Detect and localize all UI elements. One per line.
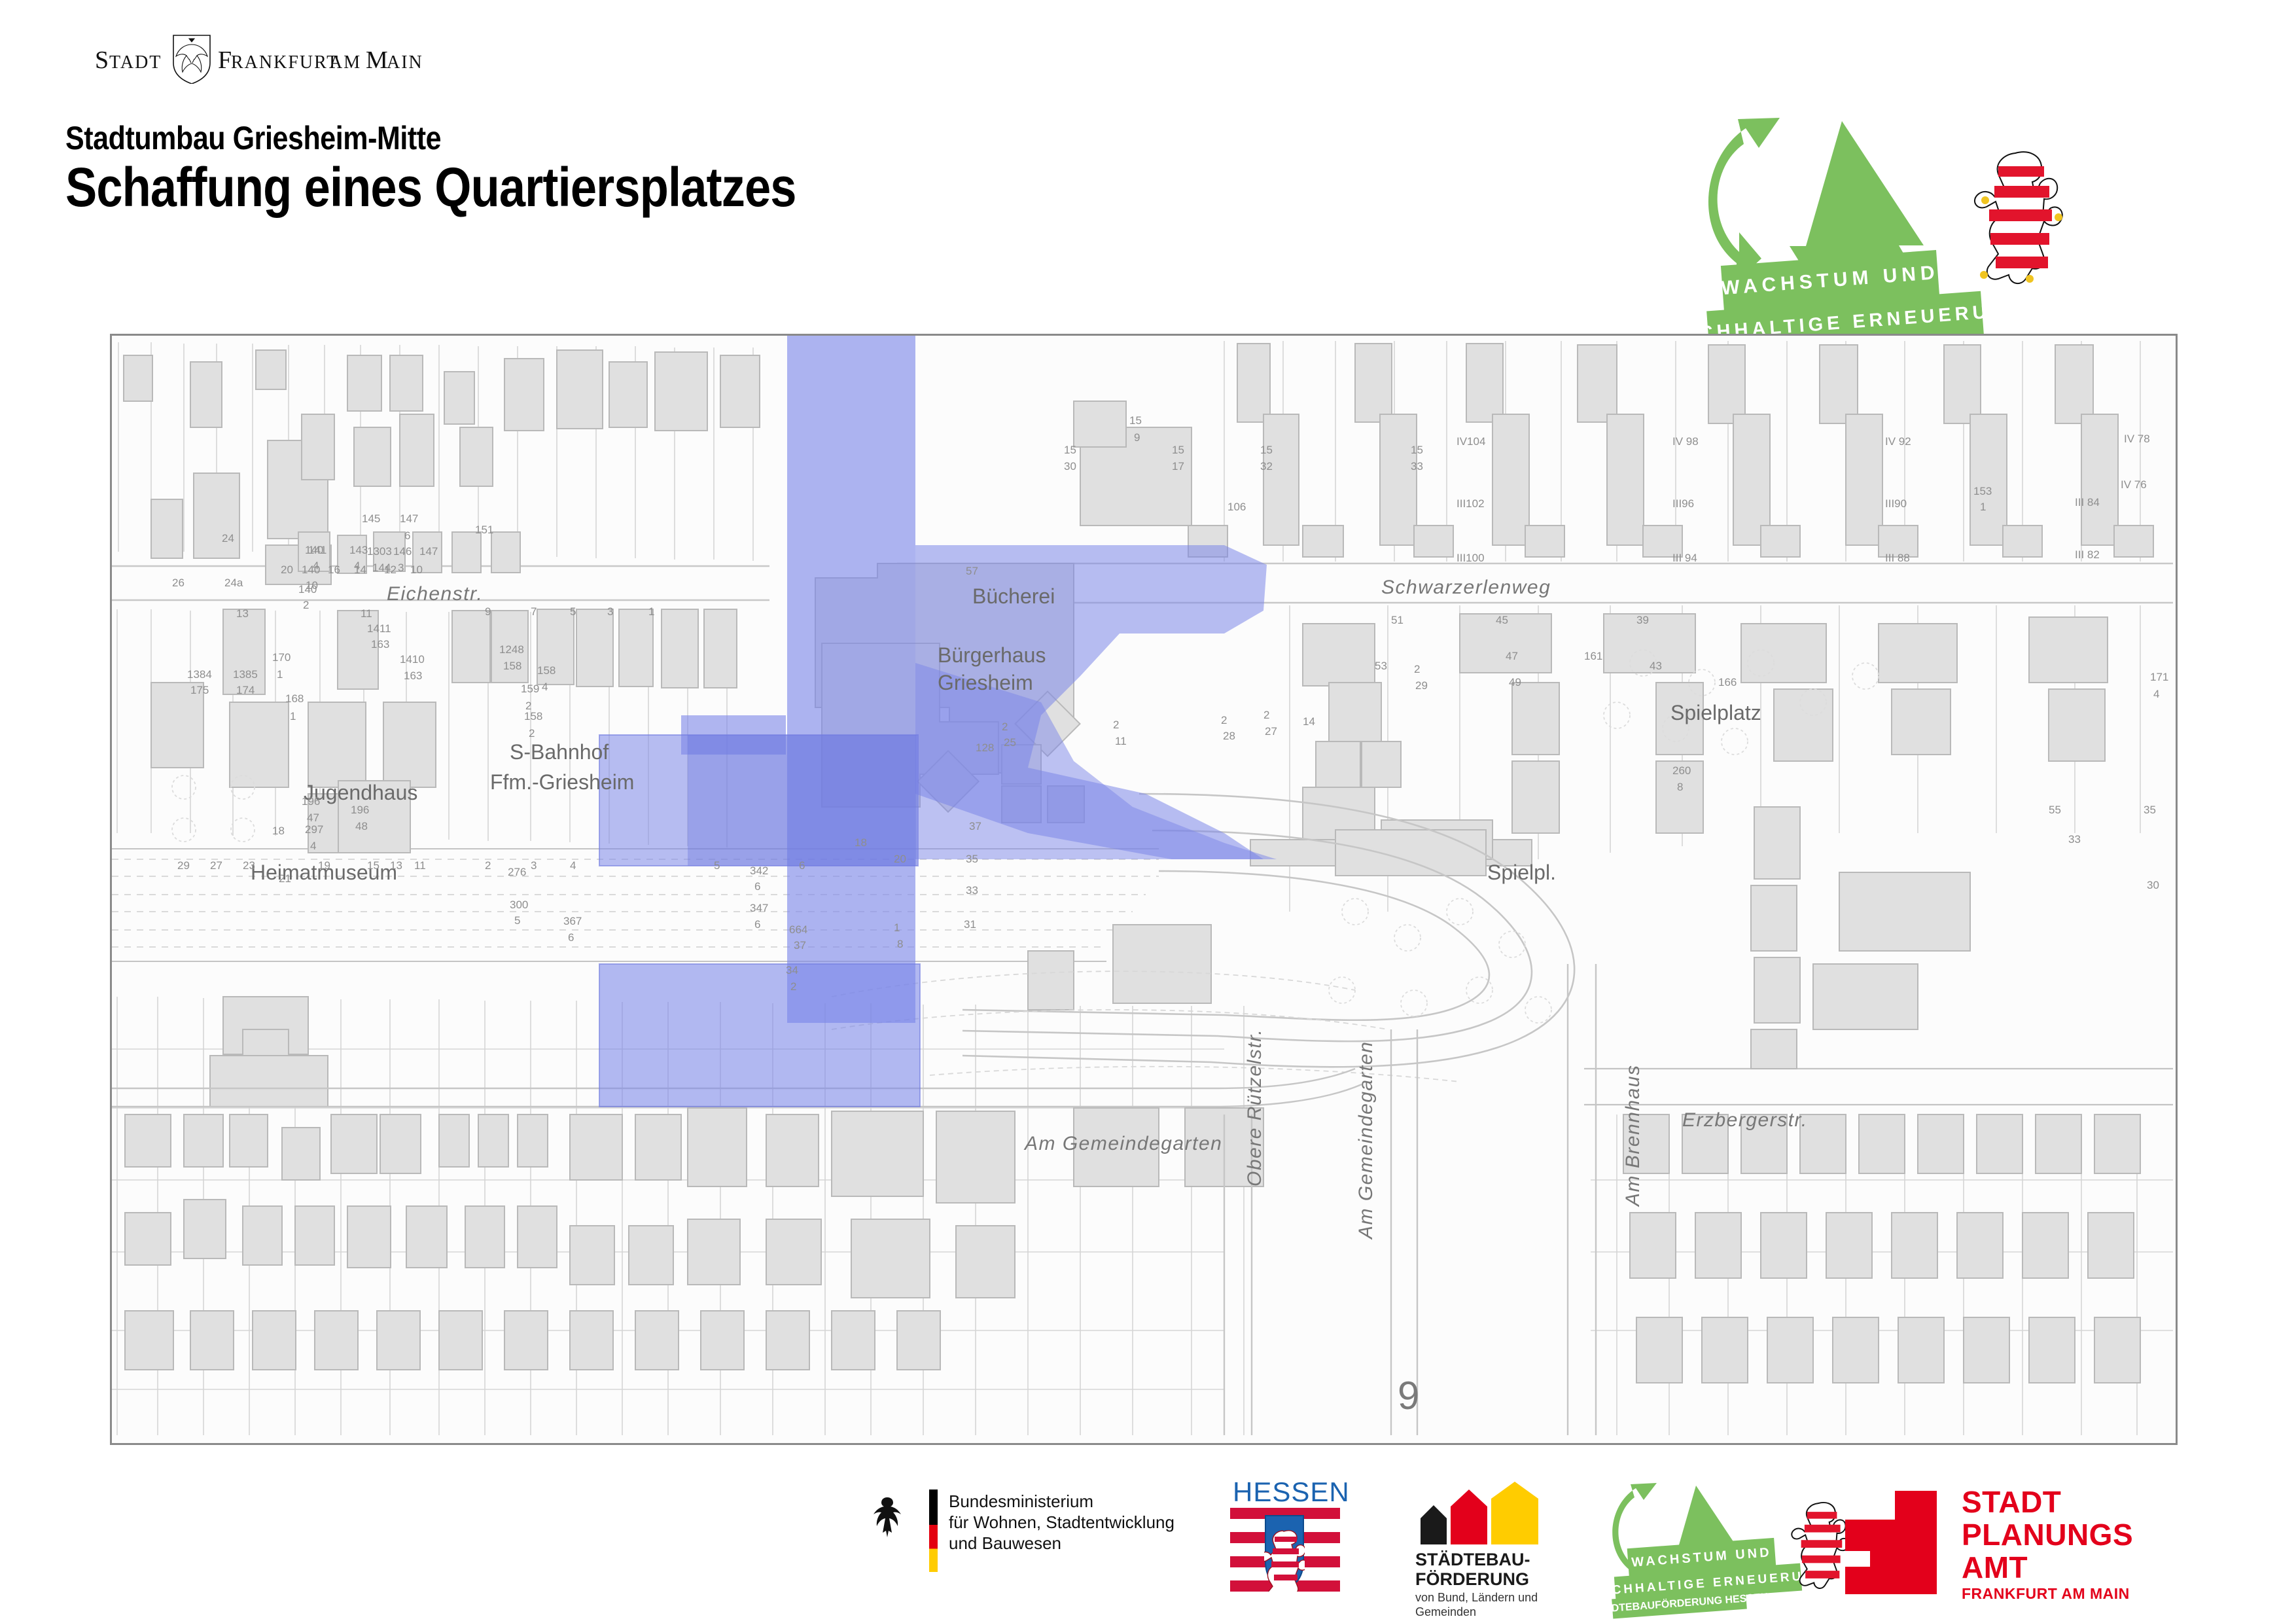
parcel-number: 19 [318,859,330,872]
bmwsb-line3: und Bauwesen [949,1533,1174,1554]
parcel-number: 13 [236,607,249,620]
parcel-number: 25 [1004,736,1016,749]
poi-label-buecherei: Bücherei [972,584,1055,609]
poi-label-spielpl: Spielpl. [1487,861,1556,885]
parcel-number: 1 [648,605,654,618]
parcel-number: 11 [1115,735,1127,748]
parcel-number: 15 [1411,444,1423,457]
parcel-number: 2 [1414,663,1420,676]
staedtebaufoerderung-logo: STÄDTEBAU- FÖRDERUNG von Bund, Ländern u… [1410,1482,1606,1606]
parcel-number: 48 [355,820,368,833]
parcel-number: IV 98 [1672,435,1699,448]
project-subtitle: Stadtumbau Griesheim-Mitte [65,119,441,157]
parcel-number: 11 [414,859,426,872]
parcel-number: 3 [531,859,537,872]
staedtebau-subtext: von Bund, Ländern und Gemeinden [1415,1590,1538,1619]
parcel-number: III90 [1885,497,1907,510]
parcel-number: 6 [754,880,760,893]
parcel-number: 367 [563,915,582,928]
parcel-number: 1 [290,710,296,723]
parcel-number: 10 [410,563,423,577]
parcel-number: 143 [349,544,368,557]
poi-label-ffm-griesheim: Ffm.-Griesheim [490,770,634,794]
svg-text:AIN: AIN [387,52,423,73]
parcel-number: 18 [272,825,285,838]
parcel-number: 12 [384,563,397,577]
parcel-number: 6 [799,859,805,872]
parcel-number: 30 [2147,879,2159,892]
parcel-number: 1384 [187,668,212,681]
parcel-number: 158 [537,664,556,677]
parcel-number: 9 [485,605,491,618]
parcel-number: 2 [1002,721,1008,734]
parcel-number: 1411 [367,622,391,635]
parcel-number: 15 [367,859,380,872]
street-label-am-gemeindegarten: Am Gemeindegarten [1025,1133,1222,1155]
parcel-number: 3 [398,562,404,575]
parcel-number: 34 [786,964,798,977]
parcel-number: III 84 [2075,496,2100,509]
parcel-number: III 82 [2075,548,2100,562]
street-label-eichenstr: Eichenstr. [387,583,483,605]
parcel-number: 174 [236,684,255,697]
parcel-number: 33 [2068,833,2081,846]
parcel-number: 161 [1584,650,1602,663]
parcel-number: 145 [362,512,380,526]
parcel-number: 158 [524,710,542,723]
svg-text:RANKFURT: RANKFURT [231,52,339,73]
parcel-number: 3 [607,605,613,618]
staedtebau-sub2: Gemeinden [1415,1605,1538,1619]
parcel-number: 29 [177,859,190,872]
street-label-schwarzerlenweg: Schwarzerlenweg [1381,577,1551,599]
parcel-number: 1 [1980,501,1986,514]
parcel-number: 175 [190,684,209,697]
street-label-erzbergerstr: Erzbergerstr. [1682,1109,1808,1132]
staedtebau-line1: STÄDTEBAU- [1415,1550,1530,1569]
parcel-number: 37 [794,939,806,952]
parcel-number: 20 [894,853,906,866]
parcel-number: 166 [1718,676,1737,689]
bmwsb-text: Bundesministerium für Wohnen, Stadtentwi… [949,1491,1174,1554]
staedtebau-line2: FÖRDERUNG [1415,1569,1530,1589]
parcel-number: 7 [531,605,537,618]
funding-logo-bar: Bundesministerium für Wohnen, Stadtentwi… [0,1472,2296,1623]
parcel-number: 163 [371,638,389,651]
parcel-number: 55 [2049,804,2061,817]
parcel-number: 45 [1496,614,1508,627]
parcel-number: 4 [570,859,576,872]
parcel-number: 342 [750,865,768,878]
parcel-number: 24 [222,532,234,545]
parcel-number: 9 [1134,431,1140,444]
parcel-number: III 88 [1885,552,1910,565]
parcel-number: 57 [966,565,978,578]
parcel-number: 17 [1172,460,1184,473]
poi-label-s-bahnhof: S-Bahnhof [510,740,609,764]
parcel-number: 27 [1265,725,1277,738]
svg-text:F: F [218,46,232,74]
city-of-frankfurt-logo: S TADT F RANKFURT AM M AIN [95,31,514,84]
spa-line1: STADT [1962,1486,2133,1518]
parcel-number: 30 [1064,460,1076,473]
parcel-number: 28 [1223,730,1235,743]
parcel-number: 2 [303,599,309,612]
parcel-number: 146 [393,545,412,558]
parcel-number: 51 [1391,614,1404,627]
parcel-number: 151 [475,524,493,537]
parcel-number: 4 [542,681,548,694]
parcel-number: 11 [361,607,372,620]
parcel-number: 8 [1677,781,1683,794]
parcel-number: 171 [2150,671,2168,684]
parcel-number: 15 [1129,414,1142,427]
parcel-number: 1 [277,668,283,681]
parcel-number: 5 [514,914,520,927]
cadastral-map[interactable]: 9 Eichenstr. Schwarzerlenweg Erzbergerst… [110,334,2178,1445]
parcel-number: 8 [897,938,903,951]
parcel-number: 1385 [233,668,258,681]
parcel-number: 26 [172,577,185,590]
parcel-number: 128 [976,741,994,755]
parcel-number: 43 [1650,660,1662,673]
parcel-number: 13 [390,859,402,872]
parcel-number: III100 [1457,552,1485,565]
street-label-am-brennhaus: Am Brennhaus [1622,1065,1644,1206]
parcel-number: 29 [1415,679,1428,692]
spa-subtitle: FRANKFURT AM MAIN [1962,1585,2130,1603]
parcel-number: 170 [272,651,291,664]
parcel-number: 23 [243,859,255,872]
parcel-number: 15 [1172,444,1184,457]
parcel-number: 1248 [499,643,524,656]
parcel-number: 27 [210,859,222,872]
poi-label-jugendhaus: Jugendhaus [304,781,417,805]
parcel-number: 31 [964,918,976,931]
parcel-number: 33 [966,884,978,897]
parcel-number: 276 [508,866,526,879]
parcel-number: 158 [503,660,521,673]
stadtplanungsamt-mark-icon [1845,1491,1937,1594]
parcel-number: 168 [285,692,304,705]
page-title: Schaffung eines Quartiersplatzes [65,156,796,219]
parcel-number: III 94 [1672,552,1697,565]
parcel-number: 140 [305,544,323,557]
street-label-obere-ruetzelstr: Obere Rützelstr. [1244,1029,1266,1186]
bmwsb-logo: Bundesministerium für Wohnen, Stadtentwi… [864,1486,1243,1584]
parcel-number: 21 [279,872,291,885]
parcel-number: 15 [1260,444,1273,457]
spa-line2: PLANUNGS [1962,1518,2133,1551]
parcel-number: 49 [1509,676,1521,689]
parcel-number: 37 [969,820,981,833]
parcel-number: 24a [224,577,243,590]
parcel-number: 159 [521,683,539,696]
spa-line3: AMT [1962,1551,2133,1584]
street-label-am-gemeindegarten-vertical: Am Gemeindegarten [1355,1041,1377,1239]
parcel-number: 2 [485,859,491,872]
parcel-number: 140 [298,583,317,596]
poi-label-griesheim: Griesheim [938,671,1033,695]
parcel-number: 5 [570,605,576,618]
svg-text:9: 9 [1398,1374,1419,1418]
parcel-number: 163 [404,669,422,683]
bmwsb-line1: Bundesministerium [949,1491,1174,1512]
stadtplanungsamt-logo: STADT PLANUNGS AMT FRANKFURT AM MAIN [1845,1486,2212,1603]
parcel-number: 147 [400,512,418,526]
parcel-number: 2 [1113,719,1119,732]
parcel-number: III102 [1457,497,1485,510]
parcel-number: IV 76 [2121,478,2147,491]
poi-label-spielplatz: Spielplatz [1670,701,1761,725]
parcel-number: 140 [302,563,320,577]
hessen-lion-icon-small [1788,1497,1853,1596]
parcel-number: 1303 [367,545,392,558]
parcel-number: 14 [354,563,366,577]
parcel-number: IV 92 [1885,435,1911,448]
svg-text:AM: AM [329,52,361,73]
parcel-number: 2 [1263,709,1269,722]
three-houses-icon [1417,1482,1554,1544]
parcel-number: 2 [529,727,535,740]
parcel-number: 35 [966,853,978,866]
hessen-title: HESSEN [1233,1476,1350,1508]
svg-text:TADT: TADT [109,52,162,73]
parcel-number: 6 [754,918,760,931]
parcel-number: III96 [1672,497,1694,510]
parcel-number: 47 [307,811,319,825]
parcel-number: 35 [2144,804,2156,817]
parcel-number: 1410 [400,653,425,666]
stadtplanungsamt-text: STADT PLANUNGS AMT [1962,1486,2133,1584]
parcel-number: 33 [1411,460,1423,473]
bmwsb-line2: für Wohnen, Stadtentwicklung [949,1512,1174,1533]
parcel-number: 297 [305,823,323,836]
hessen-state-logo: HESSEN [1230,1476,1354,1601]
parcel-number: 2 [790,980,796,993]
poi-label-buergerhaus: Bürgerhaus [938,643,1046,668]
parcel-number: 32 [1260,460,1273,473]
svg-text:S: S [95,46,109,74]
parcel-number: 1 [894,921,900,935]
parcel-number: 6 [568,931,574,944]
staedtebau-sub1: von Bund, Ländern und [1415,1590,1538,1605]
parcel-number: 16 [328,563,340,577]
parcel-number: IV104 [1457,435,1485,448]
german-flag-bar [929,1489,938,1572]
parcel-number: 47 [1506,650,1518,663]
parcel-number: 4 [2153,688,2159,701]
parcel-number: IV 78 [2124,433,2150,446]
parcel-number: 39 [1636,614,1649,627]
parcel-number: 347 [750,902,768,915]
hessen-shield-icon [1264,1514,1305,1592]
parcel-number: 6 [404,529,410,543]
parcel-number: 196 [351,804,369,817]
parcel-number: 14 [1303,715,1315,728]
parcel-number: 4 [310,840,316,853]
parcel-number: 18 [855,836,867,849]
wachstum-logo-small: WACHSTUM UND NACHHALTIGE ERNEUERUNG STÄD… [1610,1483,1884,1607]
parcel-number: 260 [1672,764,1691,777]
parcel-number: 196 [302,795,320,808]
parcel-number: 2 [1221,714,1227,727]
parcel-number: 5 [714,859,720,872]
parcel-number: 20 [281,563,293,577]
staedtebau-text: STÄDTEBAU- FÖRDERUNG [1415,1550,1530,1589]
parcel-number: 664 [789,923,807,936]
parcel-number: 147 [419,545,438,558]
federal-eagle-icon [864,1495,911,1551]
hessen-lion-icon [1969,144,2068,294]
parcel-number: 15 [1064,444,1076,457]
parcel-number: 300 [510,899,528,912]
parcel-number: 153 [1973,485,1992,498]
parcel-number: 53 [1375,660,1387,673]
parcel-number: 106 [1227,501,1246,514]
svg-text:M: M [366,46,388,74]
